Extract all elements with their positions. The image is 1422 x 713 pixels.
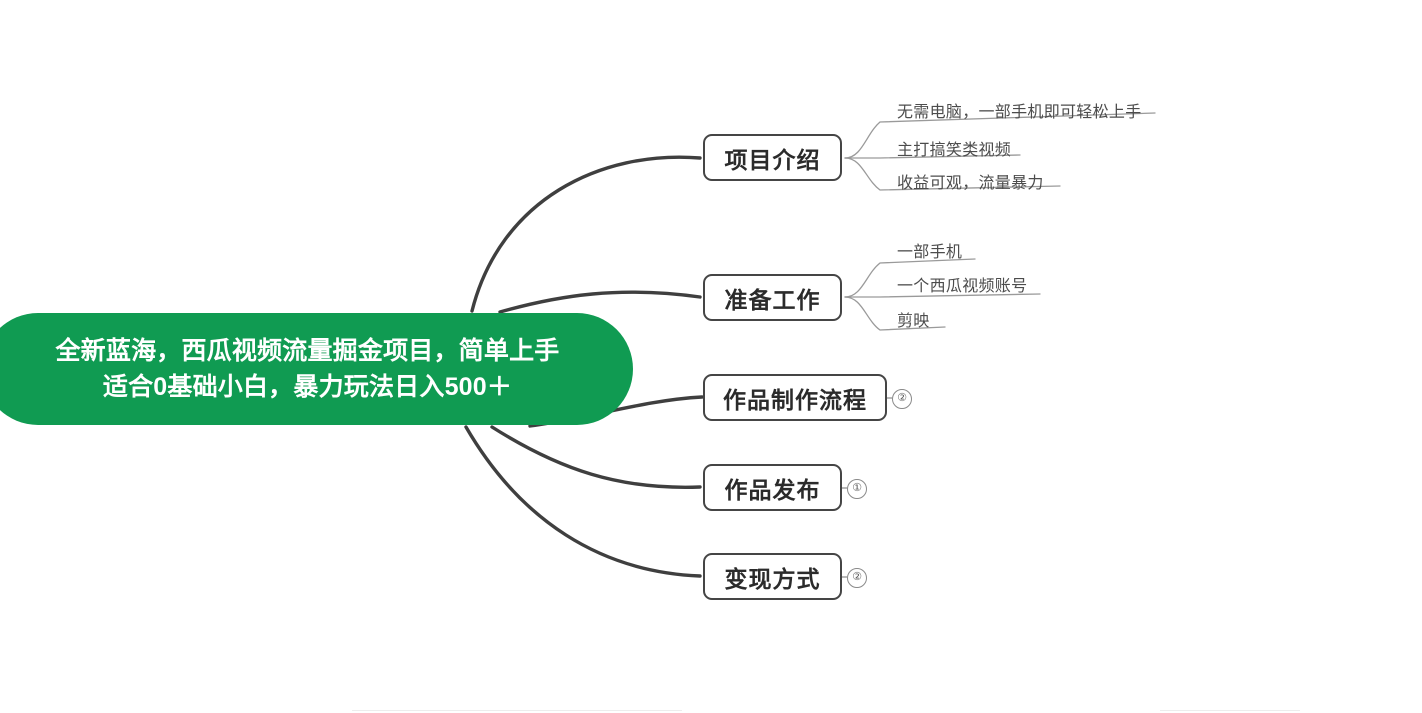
root-node[interactable]: 全新蓝海，西瓜视频流量掘金项目，简单上手 适合0基础小白，暴力玩法日入500＋ <box>0 313 633 425</box>
leaf-node-label: 一部手机 <box>897 244 962 261</box>
branch-node-project-intro[interactable]: 项目介绍 <box>703 134 842 181</box>
leaf-node-2-3[interactable]: 剪映 <box>897 307 930 331</box>
leaf-node-label: 一个西瓜视频账号 <box>897 278 1027 295</box>
branch-node-label: 作品发布 <box>725 471 821 505</box>
collapsed-count-badge-4[interactable]: ① <box>847 479 867 499</box>
branch-node-production-flow[interactable]: 作品制作流程 <box>703 374 887 421</box>
branch-node-publish[interactable]: 作品发布 <box>703 464 842 511</box>
mindmap-canvas: 全新蓝海，西瓜视频流量掘金项目，简单上手 适合0基础小白，暴力玩法日入500＋ … <box>0 0 1422 713</box>
leaf-node-1-2[interactable]: 主打搞笑类视频 <box>897 136 1011 160</box>
leaf-node-label: 收益可观，流量暴力 <box>897 175 1044 192</box>
leaf-node-label: 无需电脑，一部手机即可轻松上手 <box>897 104 1142 121</box>
branch-line-4 <box>492 427 700 487</box>
branch-node-label: 准备工作 <box>725 281 821 315</box>
leaf-node-1-3[interactable]: 收益可观，流量暴力 <box>897 169 1044 193</box>
branch-node-monetization[interactable]: 变现方式 <box>703 553 842 600</box>
branch-line-5 <box>466 427 700 576</box>
bottom-artifact-left <box>352 710 682 711</box>
leaf-line-2-3 <box>845 297 945 330</box>
collapsed-count-badge-5[interactable]: ② <box>847 568 867 588</box>
branch-node-label: 项目介绍 <box>725 141 821 175</box>
leaf-node-2-1[interactable]: 一部手机 <box>897 238 962 262</box>
leaf-node-1-1[interactable]: 无需电脑，一部手机即可轻松上手 <box>897 98 1142 122</box>
collapsed-count-badge-3[interactable]: ② <box>892 389 912 409</box>
branch-node-preparation[interactable]: 准备工作 <box>703 274 842 321</box>
branch-line-2 <box>500 292 700 312</box>
branch-line-1 <box>472 157 700 311</box>
leaf-node-label: 主打搞笑类视频 <box>897 142 1011 159</box>
branch-node-label: 作品制作流程 <box>723 381 867 415</box>
leaf-node-label: 剪映 <box>897 313 930 330</box>
bottom-artifact-right <box>1160 710 1300 711</box>
leaf-node-2-2[interactable]: 一个西瓜视频账号 <box>897 272 1027 296</box>
root-node-label: 全新蓝海，西瓜视频流量掘金项目，简单上手 适合0基础小白，暴力玩法日入500＋ <box>41 333 573 405</box>
branch-node-label: 变现方式 <box>725 560 821 594</box>
